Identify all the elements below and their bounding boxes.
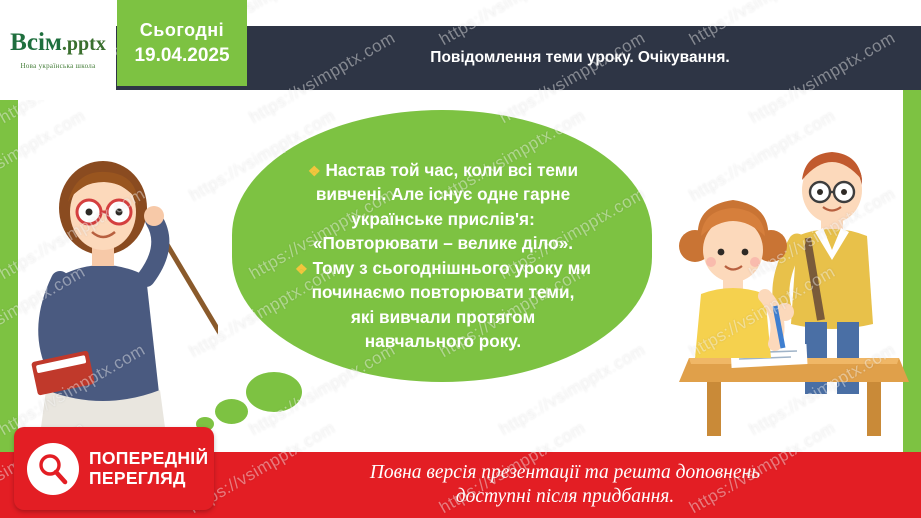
bubble-line-3: українське прислів'я:: [248, 207, 638, 231]
bubble-line-2: вивчені. Але існує одне гарне: [248, 182, 638, 206]
left-green-bar: [0, 90, 18, 452]
bubble-line-8: навчального року.: [248, 329, 638, 353]
bubble-line-7: які вивчали протягом: [248, 305, 638, 329]
slide-root: Повідомлення теми уроку. Очікування. Всі…: [0, 0, 921, 518]
date-badge-date: 19.04.2025: [134, 45, 229, 67]
preview-button-line-1: ПОПЕРЕДНІЙ: [89, 449, 208, 469]
preview-button-line-2: ПЕРЕГЛЯД: [89, 469, 208, 489]
speech-bubble-tail-medium: [215, 399, 248, 424]
brand-logo-main: Всім.pptx: [10, 30, 106, 55]
preview-button[interactable]: ПОПЕРЕДНІЙ ПЕРЕГЛЯД: [14, 427, 214, 510]
footer-line-1: Повна версія презентації та решта доповн…: [370, 461, 760, 485]
brand-logo: Всім.pptx Нова українська школа: [0, 0, 116, 100]
bubble-line-1: ❖Настав той час, коли всі теми: [248, 158, 638, 182]
bubble-line-1-text: Настав той час, коли всі теми: [326, 160, 579, 180]
brand-logo-ext: .pptx: [62, 33, 106, 55]
date-badge-today-label: Сьогодні: [140, 20, 224, 41]
speech-bubble-tail-large: [246, 372, 302, 412]
bullet-icon: ❖: [308, 163, 321, 179]
page-title: Повідомлення теми уроку. Очікування.: [250, 26, 910, 90]
brand-logo-word: Всім: [10, 29, 62, 56]
brand-logo-subtitle: Нова українська школа: [20, 62, 95, 70]
date-badge: Сьогодні 19.04.2025: [117, 0, 247, 86]
bubble-line-5-text: Тому з сьогоднішнього уроку ми: [313, 258, 591, 278]
teacher-illustration: [28, 150, 218, 450]
bubble-line-5: ❖Тому з сьогоднішнього уроку ми: [248, 256, 638, 280]
speech-bubble-text: ❖Настав той час, коли всі теми вивчені. …: [248, 158, 638, 353]
footer-line-2: доступні після придбання.: [456, 485, 674, 509]
bubble-line-6: починаємо повторювати теми,: [248, 280, 638, 304]
magnifier-icon: [27, 443, 79, 495]
bubble-line-4: «Повторювати – велике діло».: [248, 231, 638, 255]
students-illustration: [671, 110, 911, 440]
footer-text: Повна версія презентації та решта доповн…: [225, 452, 905, 518]
preview-button-labels: ПОПЕРЕДНІЙ ПЕРЕГЛЯД: [89, 449, 208, 488]
bullet-icon-2: ❖: [295, 261, 308, 277]
